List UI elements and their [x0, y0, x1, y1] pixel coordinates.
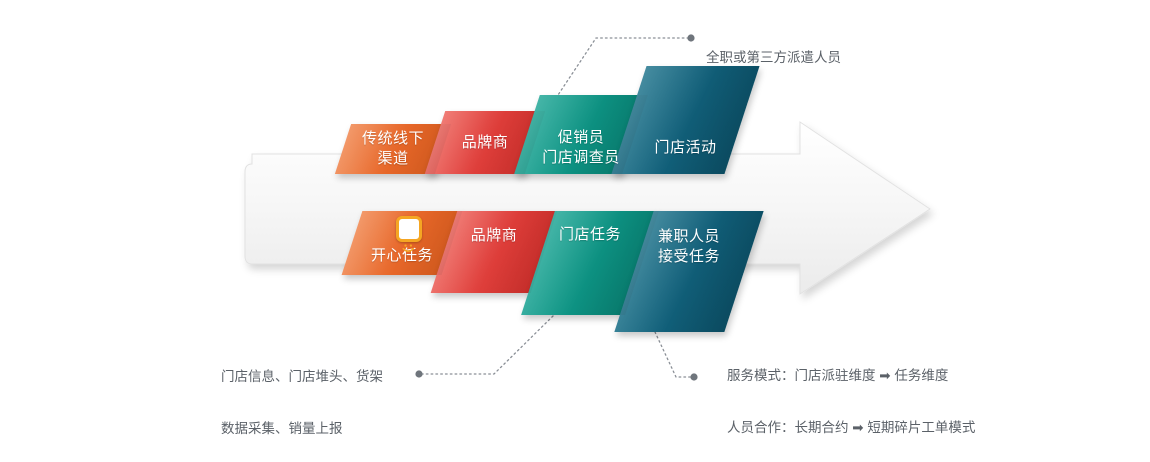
annotation-bottom-left-line2: 数据采集、销量上报 [221, 418, 383, 440]
chevron-label: 品牌商 [471, 226, 518, 278]
chevron-label: 兼职人员 接受任务 [658, 227, 720, 317]
chevron-label: 品牌商 [462, 133, 509, 153]
chevron-top-promoter-surveyor[interactable]: 促销员 门店调查员 [527, 95, 635, 174]
chevron-bottom-brand-owner[interactable]: 品牌商 [444, 211, 544, 293]
diagram-canvas: 传统线下 渠道 品牌商 促销员 门店调查员 门店活动 开心任务 品牌商 [0, 0, 1150, 430]
chevron-top-store-activity[interactable]: 门店活动 [629, 66, 742, 174]
chevron-label: 门店任务 [559, 225, 621, 301]
chevron-bottom-happy-task[interactable]: 开心任务 [352, 211, 452, 275]
chevron-label: 传统线下 渠道 [362, 129, 424, 169]
annotation-top-right-text: 全职或第三方派遣人员 [706, 50, 841, 65]
annotation-bottom-right-line2: 人员合作：长期合约 ➡ 短期碎片工单模式 [727, 417, 975, 439]
annotation-bottom-right: 服务模式：门店派驻维度 ➡ 任务维度 人员合作：长期合约 ➡ 短期碎片工单模式 [727, 343, 975, 461]
smiley-icon [396, 216, 422, 242]
chevron-bottom-parttime-accept[interactable]: 兼职人员 接受任务 [634, 211, 744, 332]
annotation-top-right: 全职或第三方派遣人员 [706, 25, 841, 69]
annotation-bottom-left: 门店信息、门店堆头、货架 数据采集、销量上报 [221, 344, 383, 462]
annotation-bottom-left-line1: 门店信息、门店堆头、货架 [221, 366, 383, 388]
chevron-label: 门店活动 [654, 83, 716, 158]
chevron-label: 促销员 门店调查员 [542, 102, 620, 168]
annotation-bottom-right-line1: 服务模式：门店派驻维度 ➡ 任务维度 [727, 365, 975, 387]
